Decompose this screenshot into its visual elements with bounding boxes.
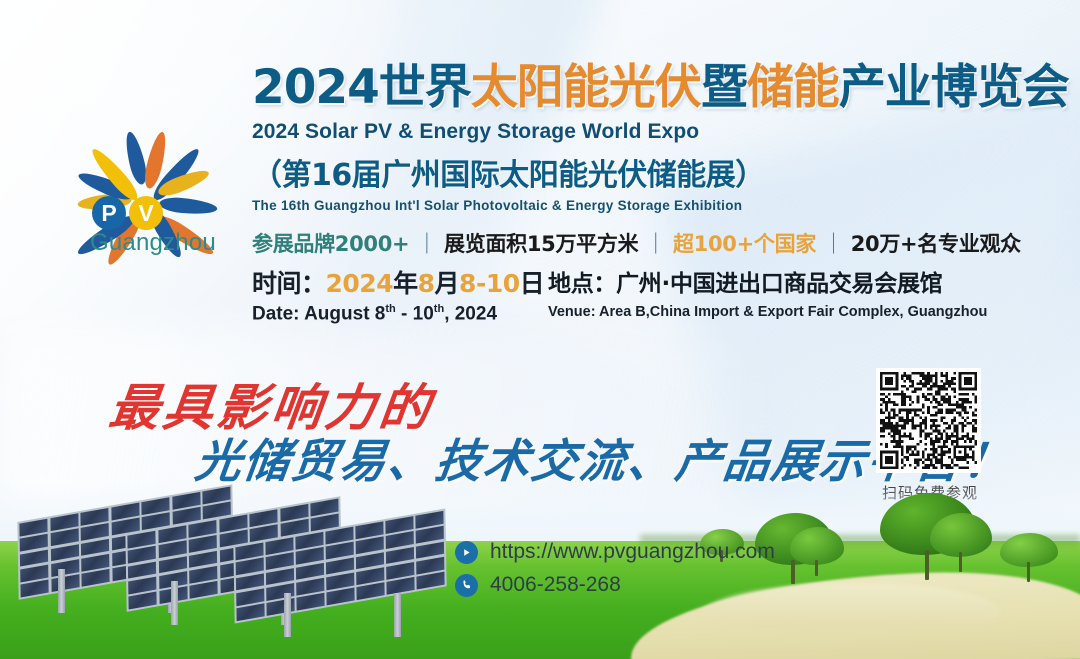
subtitle-english: The 16th Guangzhou Int'l Solar Photovolt… <box>252 198 1042 213</box>
panel-support-post <box>284 593 291 637</box>
tree <box>930 513 992 577</box>
contact-phone-row[interactable]: 4006-258-268 <box>455 573 775 597</box>
tree-trunk <box>925 550 929 580</box>
stats-item: 超100+个国家 <box>673 232 816 256</box>
panel-cell <box>51 574 79 592</box>
stats-separator: ｜ <box>416 232 437 256</box>
date-block: 时间：2024年8月8-10日 Date: August 8th - 10th,… <box>252 264 544 325</box>
panel-cell <box>357 582 385 600</box>
subtitle-chinese: （第16届广州国际太阳能光伏储能展） <box>252 150 1042 194</box>
venue-chinese: 地点：广州·中国进出口商品交易会展馆 <box>548 264 987 298</box>
solar-panel-array <box>18 499 448 621</box>
stats-separator: ｜ <box>823 232 844 256</box>
panel-support-post <box>171 581 178 625</box>
panel-cell <box>189 581 217 599</box>
logo-city-label: Guangzhou <box>90 229 216 257</box>
logo-badge-p: P <box>92 196 126 230</box>
panel-support-post <box>394 593 401 637</box>
title-segment: 产业博览会 <box>839 60 1069 115</box>
stats-separator: ｜ <box>645 232 666 256</box>
tree <box>1000 533 1058 587</box>
tree-trunk <box>815 560 818 576</box>
venue-block: 地点：广州·中国进出口商品交易会展馆 Venue: Area B,China I… <box>548 264 987 320</box>
expo-poster: P V Guangzhou 2024世界太阳能光伏暨储能产业博览会 2024 S… <box>0 0 1080 659</box>
contact-block: https://www.pvguangzhou.com 4006-258-268 <box>455 540 775 606</box>
title-segment: 储能 <box>747 60 839 115</box>
panel-cell <box>327 588 355 606</box>
panel-cell <box>20 580 48 598</box>
stats-item: 展览面积15万平方米 <box>444 232 638 256</box>
panel-support-post <box>58 569 65 613</box>
play-circle-icon <box>455 541 478 564</box>
panel-cell <box>297 593 325 611</box>
date-english: Date: August 8th - 10th, 2024 <box>252 303 544 325</box>
tree-trunk <box>959 552 962 572</box>
stats-item: 20万+名专业观众 <box>851 232 1021 256</box>
stats-item: 参展品牌2000+ <box>252 232 409 256</box>
date-chinese: 时间：2024年8月8-10日 <box>252 264 544 300</box>
venue-english: Venue: Area B,China Import & Export Fair… <box>548 304 987 320</box>
qr-code[interactable] <box>876 368 981 473</box>
tree-crown <box>930 513 992 557</box>
phone-circle-icon <box>455 574 478 597</box>
phone-number[interactable]: 4006-258-268 <box>490 573 621 597</box>
title-segment: 暨 <box>701 60 747 115</box>
page-title: 2024世界太阳能光伏暨储能产业博览会 <box>252 62 1042 114</box>
title-english: 2024 Solar PV & Energy Storage World Exp… <box>252 120 1042 144</box>
header-block: 2024世界太阳能光伏暨储能产业博览会 2024 Solar PV & Ener… <box>252 62 1042 258</box>
panel-cell <box>128 592 156 610</box>
tree-trunk <box>1027 562 1030 582</box>
logo-badge-v: V <box>129 196 163 230</box>
stats-row: 参展品牌2000+｜展览面积15万平方米｜超100+个国家｜20万+名专业观众 <box>252 228 1042 258</box>
panel-cell <box>236 604 264 622</box>
tree <box>790 527 844 581</box>
contact-website-row[interactable]: https://www.pvguangzhou.com <box>455 540 775 564</box>
pv-guangzhou-logo: P V Guangzhou <box>52 88 242 273</box>
website-url[interactable]: https://www.pvguangzhou.com <box>490 540 775 564</box>
logo-petal <box>159 196 218 216</box>
panel-cell <box>81 569 109 587</box>
logo-pv-badges: P V <box>92 196 163 230</box>
panel-cell <box>417 572 445 590</box>
title-segment: 太阳能光伏 <box>471 60 701 115</box>
title-segment: 2024世界 <box>252 60 471 115</box>
